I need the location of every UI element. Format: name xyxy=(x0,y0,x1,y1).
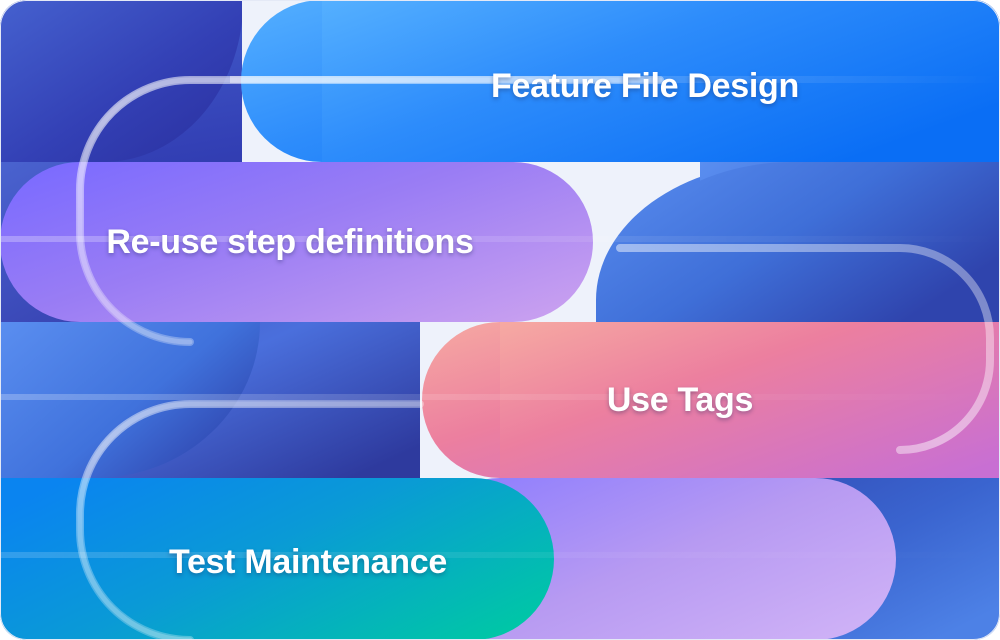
banner-canvas: Feature File Design Re-use step definiti… xyxy=(0,0,1000,640)
decorative-band-artwork xyxy=(0,0,1000,640)
